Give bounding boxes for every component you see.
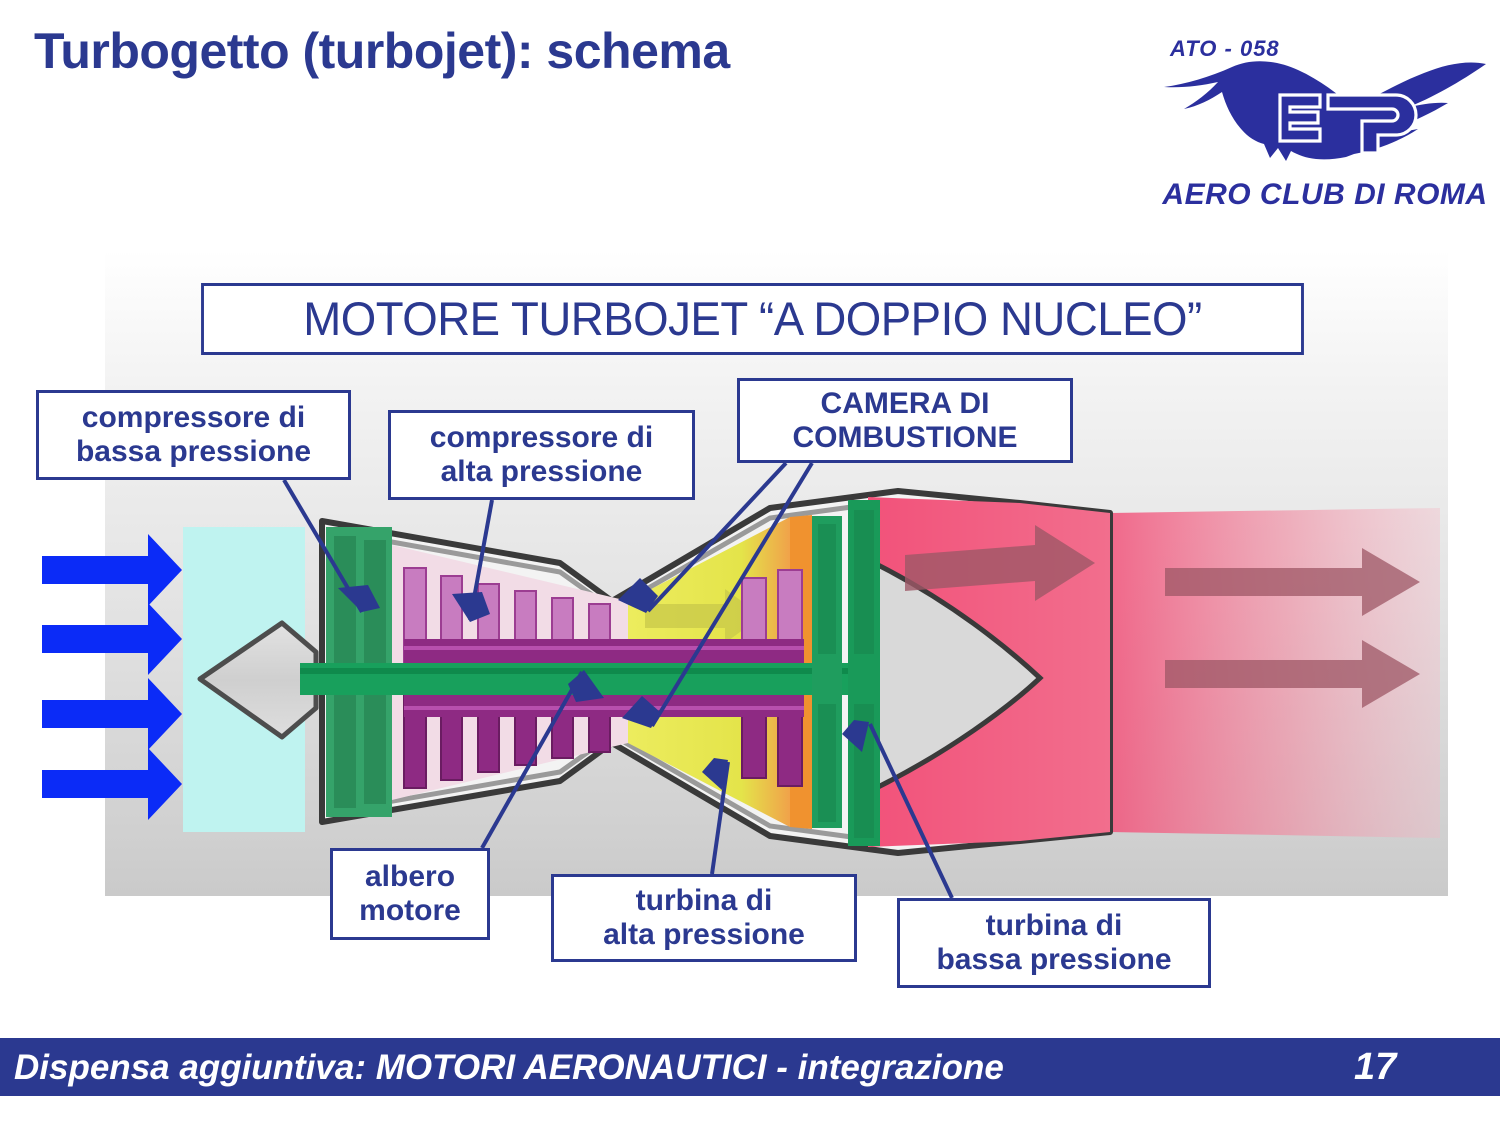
label-line-group: compressore dibassa pressione [76,401,311,468]
eagle-icon [1160,58,1490,178]
label-albero-motore: alberomotore [330,848,490,940]
label-turbina-bassa-pressione: turbina dibassa pressione [897,898,1211,988]
label-line-group: turbina dialta pressione [603,884,805,951]
label-line-group: CAMERA DICOMBUSTIONE [793,387,1018,454]
slide-root: Turbogetto (turbojet): schema ATO - 058 … [0,0,1500,1125]
label-camera-combustione: CAMERA DICOMBUSTIONE [737,378,1073,463]
logo-org-name: AERO CLUB DI ROMA [1160,178,1490,212]
footer-caption: Dispensa aggiuntiva: MOTORI AERONAUTICI … [14,1048,1004,1088]
page-number: 17 [1354,1046,1396,1089]
label-line-group: turbina dibassa pressione [936,909,1171,976]
label-turbina-alta-pressione: turbina dialta pressione [551,874,857,962]
label-compressore-bassa-pressione: compressore dibassa pressione [36,390,351,480]
label-line-group: alberomotore [359,860,461,927]
label-compressore-alta-pressione: compressore dialta pressione [388,410,695,500]
page-title: Turbogetto (turbojet): schema [34,22,730,80]
aero-club-logo: ATO - 058 AERO CLUB DI ROMA [1160,18,1490,218]
diagram-heading-box: MOTORE TURBOJET “A DOPPIO NUCLEO” [201,283,1304,355]
label-line-group: compressore dialta pressione [430,421,653,488]
